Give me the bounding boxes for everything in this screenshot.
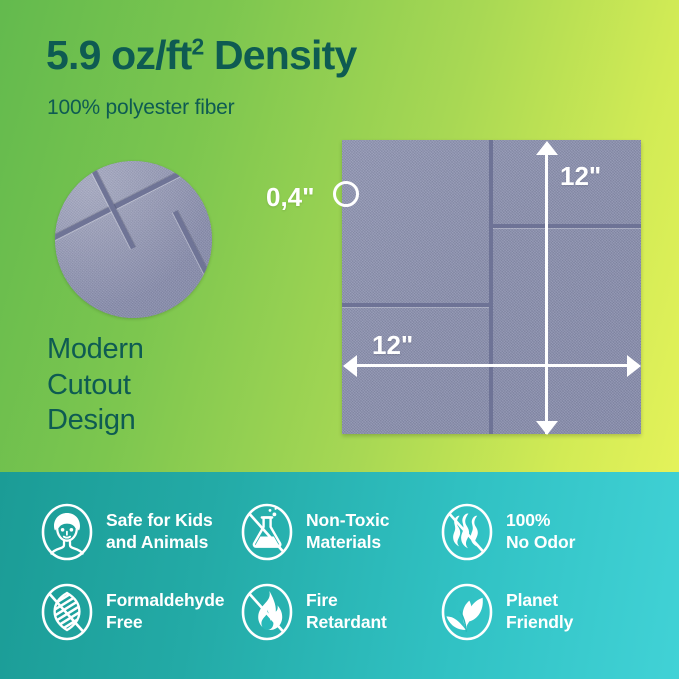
horizontal-dimension-arrow — [349, 364, 637, 367]
thickness-label: 0,4" — [266, 182, 314, 213]
tile-groove-horizontal-right — [489, 224, 641, 228]
height-dimension-label: 12" — [560, 161, 601, 192]
vertical-dimension-arrow — [545, 148, 548, 434]
feature-no-odor: 100% No Odor — [440, 492, 640, 572]
no-formaldehyde-icon — [40, 581, 94, 643]
feature-safe-for-kids: Safe for Kids and Animals — [40, 492, 240, 572]
arrow-head-up-icon — [536, 141, 558, 155]
feature-non-toxic: Non-Toxic Materials — [240, 492, 440, 572]
product-infographic: 5.9 oz/ft2 Density 100% polyester fiber … — [0, 0, 679, 679]
no-toxic-flask-icon — [240, 501, 294, 563]
feature-badge-grid: Safe for Kids and Animals — [40, 492, 640, 652]
leaf-eco-icon — [440, 581, 494, 643]
feature-label: Non-Toxic Materials — [306, 510, 389, 553]
child-face-icon — [40, 501, 94, 563]
thickness-circle-icon — [333, 181, 359, 207]
headline-superscript: 2 — [191, 33, 203, 59]
arrow-head-right-icon — [627, 355, 641, 377]
page-subtitle: 100% polyester fiber — [47, 96, 234, 120]
feature-label: Planet Friendly — [506, 590, 573, 633]
feature-formaldehyde-free: Formaldehyde Free — [40, 572, 240, 652]
features-section: Safe for Kids and Animals — [0, 472, 679, 679]
tile-groove-vertical-top — [489, 140, 493, 226]
tile-groove-vertical-bottom — [489, 224, 493, 434]
arrow-head-down-icon — [536, 421, 558, 435]
feature-label: Safe for Kids and Animals — [106, 510, 213, 553]
width-dimension-label: 12" — [372, 330, 413, 361]
green-hero-section: 5.9 oz/ft2 Density 100% polyester fiber … — [0, 0, 679, 472]
tile-groove-horizontal-left — [342, 303, 493, 307]
feature-label: Fire Retardant — [306, 590, 387, 633]
arrow-head-left-icon — [343, 355, 357, 377]
feature-label: 100% No Odor — [506, 510, 575, 553]
feature-label: Formaldehyde Free — [106, 590, 224, 633]
material-swatch-circle — [55, 161, 212, 318]
feature-fire-retardant: Fire Retardant — [240, 572, 440, 652]
cutout-design-caption: Modern Cutout Design — [47, 332, 144, 439]
no-fire-flame-icon — [240, 581, 294, 643]
page-title: 5.9 oz/ft2 Density — [46, 34, 357, 77]
headline-main: 5.9 oz/ft — [46, 32, 191, 78]
headline-suffix: Density — [203, 32, 356, 78]
no-odor-smoke-icon — [440, 501, 494, 563]
feature-planet-friendly: Planet Friendly — [440, 572, 640, 652]
